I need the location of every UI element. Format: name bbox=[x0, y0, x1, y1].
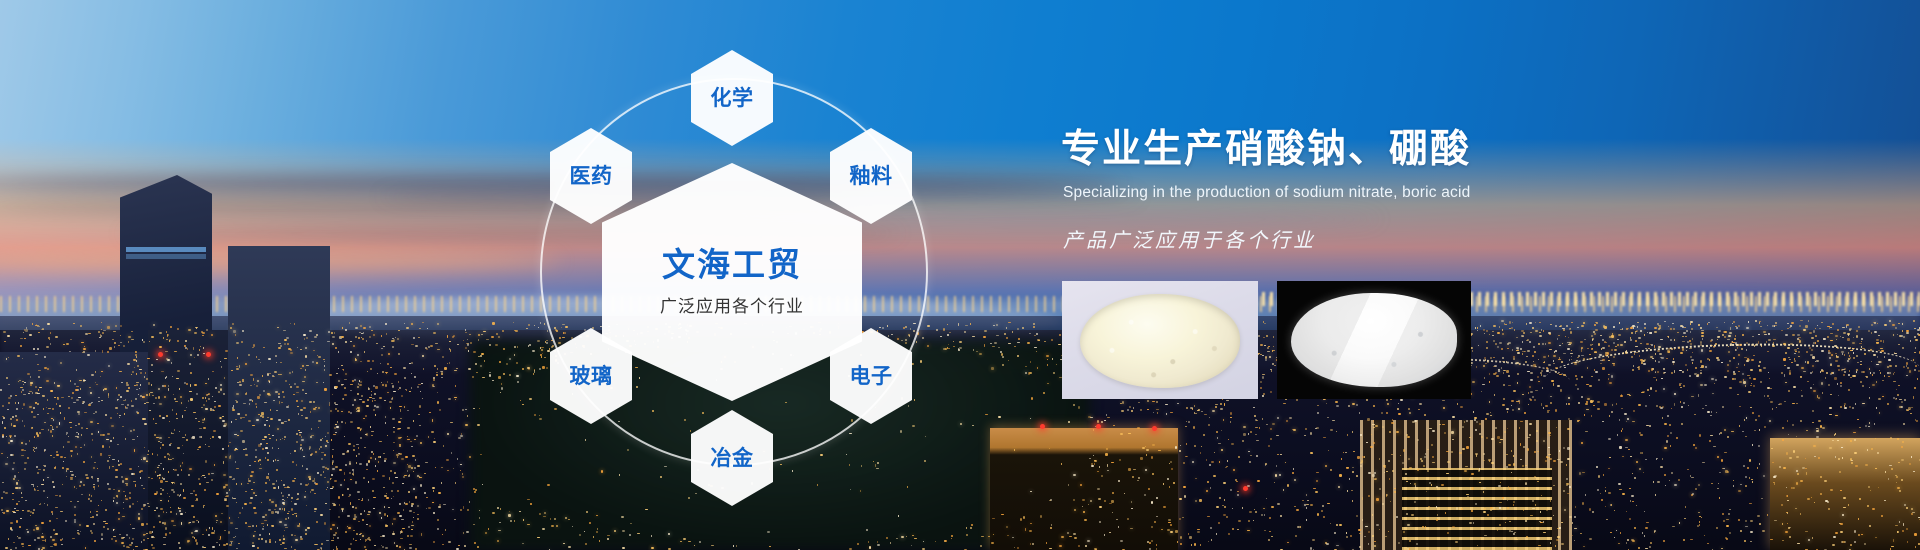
hex-label-chemistry: 化学 bbox=[711, 88, 754, 109]
white-powder-pile bbox=[1291, 293, 1457, 387]
subheadline-text: Specializing in the production of sodium… bbox=[1063, 184, 1821, 202]
cream-powder-pile bbox=[1080, 294, 1240, 388]
hex-label-electronics: 电子 bbox=[850, 366, 893, 387]
company-name: 文海工贸 bbox=[662, 247, 802, 283]
hex-label-metallurgy: 冶金 bbox=[711, 448, 754, 469]
distant-shore-lights bbox=[1150, 292, 1920, 306]
hex-label-glass: 玻璃 bbox=[570, 366, 613, 387]
promo-banner: 化学 釉料 电子 冶金 玻璃 医药 文海工贸 广泛应用各个行业 专业生产硝酸钠、… bbox=[0, 0, 1920, 550]
hex-label-glaze: 釉料 bbox=[850, 166, 893, 187]
hex-label-medicine: 医药 bbox=[570, 166, 613, 187]
background-cityscape-image bbox=[0, 0, 1920, 550]
city-window-lights bbox=[0, 318, 1920, 550]
industry-hex-diagram: 化学 釉料 电子 冶金 玻璃 医药 文海工贸 广泛应用各个行业 bbox=[522, 28, 942, 528]
tagline-text: 产品广泛应用于各个行业 bbox=[1063, 224, 1821, 253]
headline-block: 专业生产硝酸钠、硼酸 Specializing in the productio… bbox=[1061, 128, 1821, 253]
headline-text: 专业生产硝酸钠、硼酸 bbox=[1061, 128, 1821, 173]
product-photo-boric-acid[interactable] bbox=[1277, 281, 1471, 399]
company-tagline: 广泛应用各个行业 bbox=[660, 292, 804, 317]
product-photo-sodium-nitrate[interactable] bbox=[1062, 281, 1258, 399]
